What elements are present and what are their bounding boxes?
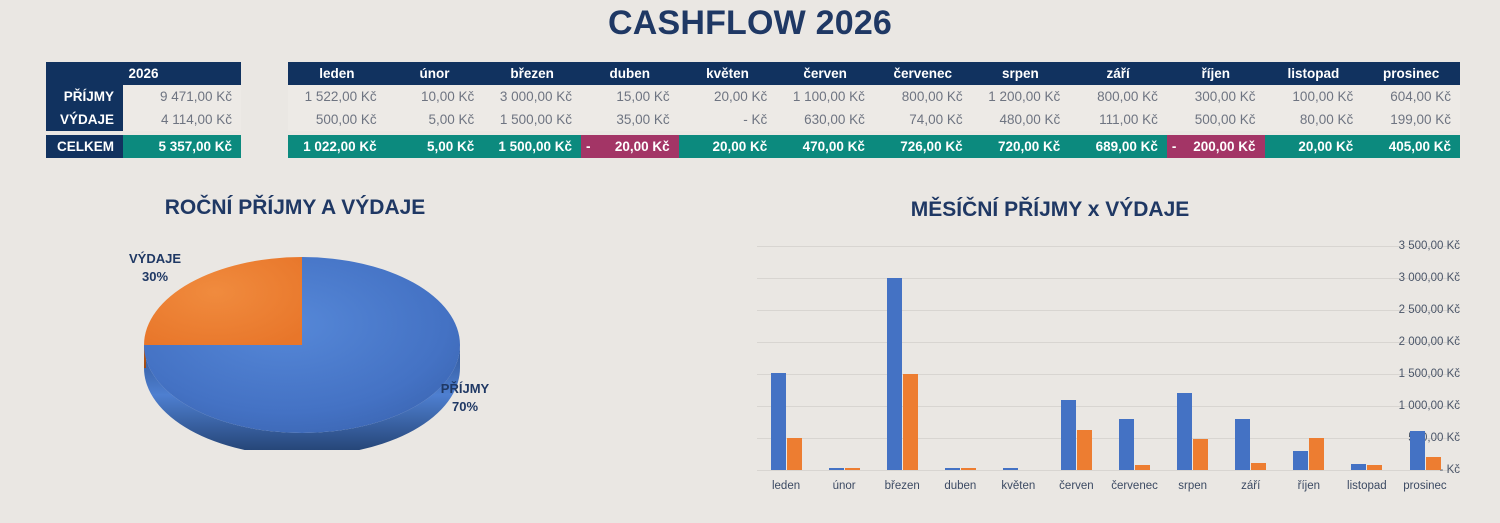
summary-row-value: 9 471,00 Kč: [123, 85, 241, 108]
summary-row-value: 5 357,00 Kč: [123, 135, 241, 158]
month-total-cell: 689,00 Kč: [1069, 135, 1167, 158]
month-income-cell: 800,00 Kč: [874, 85, 972, 108]
month-total-cell: 470,00 Kč: [776, 135, 874, 158]
y-axis-tick: 1 500,00 Kč: [1368, 368, 1460, 380]
month-expense-cell: 35,00 Kč: [581, 108, 679, 131]
month-header: listopad: [1265, 62, 1363, 85]
pie-label-prijmy-name: PŘÍJMY: [420, 380, 510, 398]
table-row: 500,00 Kč5,00 Kč1 500,00 Kč35,00 Kč- Kč6…: [288, 108, 1460, 131]
y-axis-tick: 2 000,00 Kč: [1368, 336, 1460, 348]
bar-vydaje: [1193, 439, 1208, 470]
month-expense-cell: 500,00 Kč: [1167, 108, 1265, 131]
month-expense-cell: 630,00 Kč: [776, 108, 874, 131]
month-total-cell: 20,00 Kč: [679, 135, 777, 158]
month-expense-cell: 111,00 Kč: [1069, 108, 1167, 131]
bar-prijmy: [1235, 419, 1250, 470]
month-total-cell: 1 022,00 Kč: [288, 135, 386, 158]
bar-vydaje: [1251, 463, 1266, 470]
annual-summary-table: 2026PŘÍJMY9 471,00 KčVÝDAJE4 114,00 KčCE…: [46, 62, 241, 158]
month-income-cell: 604,00 Kč: [1362, 85, 1460, 108]
month-expense-cell: 5,00 Kč: [386, 108, 484, 131]
table-row: 2026: [46, 62, 241, 85]
bar-prijmy: [1293, 451, 1308, 470]
gridline: [757, 342, 1460, 343]
month-income-cell: 15,00 Kč: [581, 85, 679, 108]
table-row: PŘÍJMY9 471,00 Kč: [46, 85, 241, 108]
month-header: březen: [483, 62, 581, 85]
x-axis-tick: leden: [757, 480, 815, 492]
month-total-cell: 720,00 Kč: [972, 135, 1070, 158]
pie-label-vydaje-percent: 30%: [110, 268, 200, 286]
x-axis-tick: prosinec: [1396, 480, 1454, 492]
bar-vydaje: [961, 468, 976, 470]
x-axis-tick: duben: [931, 480, 989, 492]
bar-vydaje: [903, 374, 918, 470]
table-row: ledenúnorbřezendubenkvětenčervenčervenec…: [288, 62, 1460, 85]
month-income-cell: 1 100,00 Kč: [776, 85, 874, 108]
bar-prijmy: [1351, 464, 1366, 470]
month-header: červen: [776, 62, 874, 85]
bar-vydaje: [1367, 465, 1382, 470]
month-total-cell: 1 500,00 Kč: [483, 135, 581, 158]
gridline: [757, 374, 1460, 375]
table-row: 1 522,00 Kč10,00 Kč3 000,00 Kč15,00 Kč20…: [288, 85, 1460, 108]
y-axis-tick: 2 500,00 Kč: [1368, 304, 1460, 316]
y-axis-tick: 3 500,00 Kč: [1368, 240, 1460, 252]
month-income-cell: 20,00 Kč: [679, 85, 777, 108]
x-axis-tick: březen: [873, 480, 931, 492]
y-axis-tick: 3 000,00 Kč: [1368, 272, 1460, 284]
y-axis-tick: 1 000,00 Kč: [1368, 400, 1460, 412]
x-axis-tick: listopad: [1338, 480, 1396, 492]
bar-prijmy: [1061, 400, 1076, 470]
bar-vydaje: [1309, 438, 1324, 470]
gridline: [757, 310, 1460, 311]
month-total-cell: 726,00 Kč: [874, 135, 972, 158]
month-total-cell: 405,00 Kč: [1362, 135, 1460, 158]
pie-label-vydaje: VÝDAJE 30%: [110, 250, 200, 286]
x-axis-tick: červen: [1047, 480, 1105, 492]
bar-prijmy: [829, 468, 844, 470]
pie-label-vydaje-name: VÝDAJE: [110, 250, 200, 268]
month-expense-cell: 74,00 Kč: [874, 108, 972, 131]
month-total-cell-negative: -20,00 Kč: [581, 135, 679, 158]
month-header: duben: [581, 62, 679, 85]
minus-sign: -: [586, 135, 591, 158]
pie-chart-title: ROČNÍ PŘÍJMY A VÝDAJE: [30, 196, 560, 220]
month-income-cell: 100,00 Kč: [1265, 85, 1363, 108]
month-expense-cell: 199,00 Kč: [1362, 108, 1460, 131]
monthly-bar-chart: - Kč500,00 Kč1 000,00 Kč1 500,00 Kč2 000…: [660, 236, 1460, 511]
month-expense-cell: - Kč: [679, 108, 777, 131]
bar-chart-title: MĚSÍČNÍ PŘÍJMY x VÝDAJE: [700, 198, 1400, 222]
summary-row-label: PŘÍJMY: [46, 85, 123, 108]
month-income-cell: 800,00 Kč: [1069, 85, 1167, 108]
month-total-cell-negative: -200,00 Kč: [1167, 135, 1265, 158]
bar-vydaje: [845, 468, 860, 470]
bar-prijmy: [945, 468, 960, 470]
x-axis-tick: červenec: [1106, 480, 1164, 492]
month-expense-cell: 1 500,00 Kč: [483, 108, 581, 131]
summary-row-label: CELKEM: [46, 135, 123, 158]
month-header: únor: [386, 62, 484, 85]
bar-prijmy: [1410, 431, 1425, 470]
month-header: září: [1069, 62, 1167, 85]
table-row: 1 022,00 Kč5,00 Kč1 500,00 Kč-20,00 Kč20…: [288, 135, 1460, 158]
bar-prijmy: [771, 373, 786, 470]
bar-prijmy: [1003, 468, 1018, 470]
month-header: červenec: [874, 62, 972, 85]
gridline: [757, 470, 1460, 471]
month-header: říjen: [1167, 62, 1265, 85]
minus-sign: -: [1172, 135, 1177, 158]
x-axis-tick: únor: [815, 480, 873, 492]
x-axis-tick: květen: [989, 480, 1047, 492]
table-row: VÝDAJE4 114,00 Kč: [46, 108, 241, 131]
bar-prijmy: [887, 278, 902, 470]
month-header: květen: [679, 62, 777, 85]
summary-row-label: VÝDAJE: [46, 108, 123, 131]
x-axis-tick: září: [1222, 480, 1280, 492]
table-row: CELKEM5 357,00 Kč: [46, 135, 241, 158]
month-header: srpen: [972, 62, 1070, 85]
month-income-cell: 300,00 Kč: [1167, 85, 1265, 108]
month-header: leden: [288, 62, 386, 85]
month-expense-cell: 80,00 Kč: [1265, 108, 1363, 131]
pie-label-prijmy-percent: 70%: [420, 398, 510, 416]
gridline: [757, 278, 1460, 279]
summary-row-value: 4 114,00 Kč: [123, 108, 241, 131]
bar-prijmy: [1119, 419, 1134, 470]
page-title: CASHFLOW 2026: [0, 4, 1500, 43]
gridline: [757, 246, 1460, 247]
gridline: [757, 438, 1460, 439]
summary-year-header: 2026: [46, 62, 241, 85]
month-income-cell: 1 200,00 Kč: [972, 85, 1070, 108]
month-total-cell: 5,00 Kč: [386, 135, 484, 158]
bar-prijmy: [1177, 393, 1192, 470]
bar-vydaje: [1135, 465, 1150, 470]
x-axis-tick: srpen: [1164, 480, 1222, 492]
pie-label-prijmy: PŘÍJMY 70%: [420, 380, 510, 416]
month-expense-cell: 500,00 Kč: [288, 108, 386, 131]
monthly-cashflow-table: ledenúnorbřezendubenkvětenčervenčervenec…: [288, 62, 1460, 158]
bar-vydaje: [1426, 457, 1441, 470]
gridline: [757, 406, 1460, 407]
month-expense-cell: 480,00 Kč: [972, 108, 1070, 131]
month-income-cell: 3 000,00 Kč: [483, 85, 581, 108]
x-axis-tick: říjen: [1280, 480, 1338, 492]
month-header: prosinec: [1362, 62, 1460, 85]
month-total-cell: 20,00 Kč: [1265, 135, 1363, 158]
month-income-cell: 10,00 Kč: [386, 85, 484, 108]
bar-vydaje: [1077, 430, 1092, 470]
month-income-cell: 1 522,00 Kč: [288, 85, 386, 108]
bar-vydaje: [787, 438, 802, 470]
